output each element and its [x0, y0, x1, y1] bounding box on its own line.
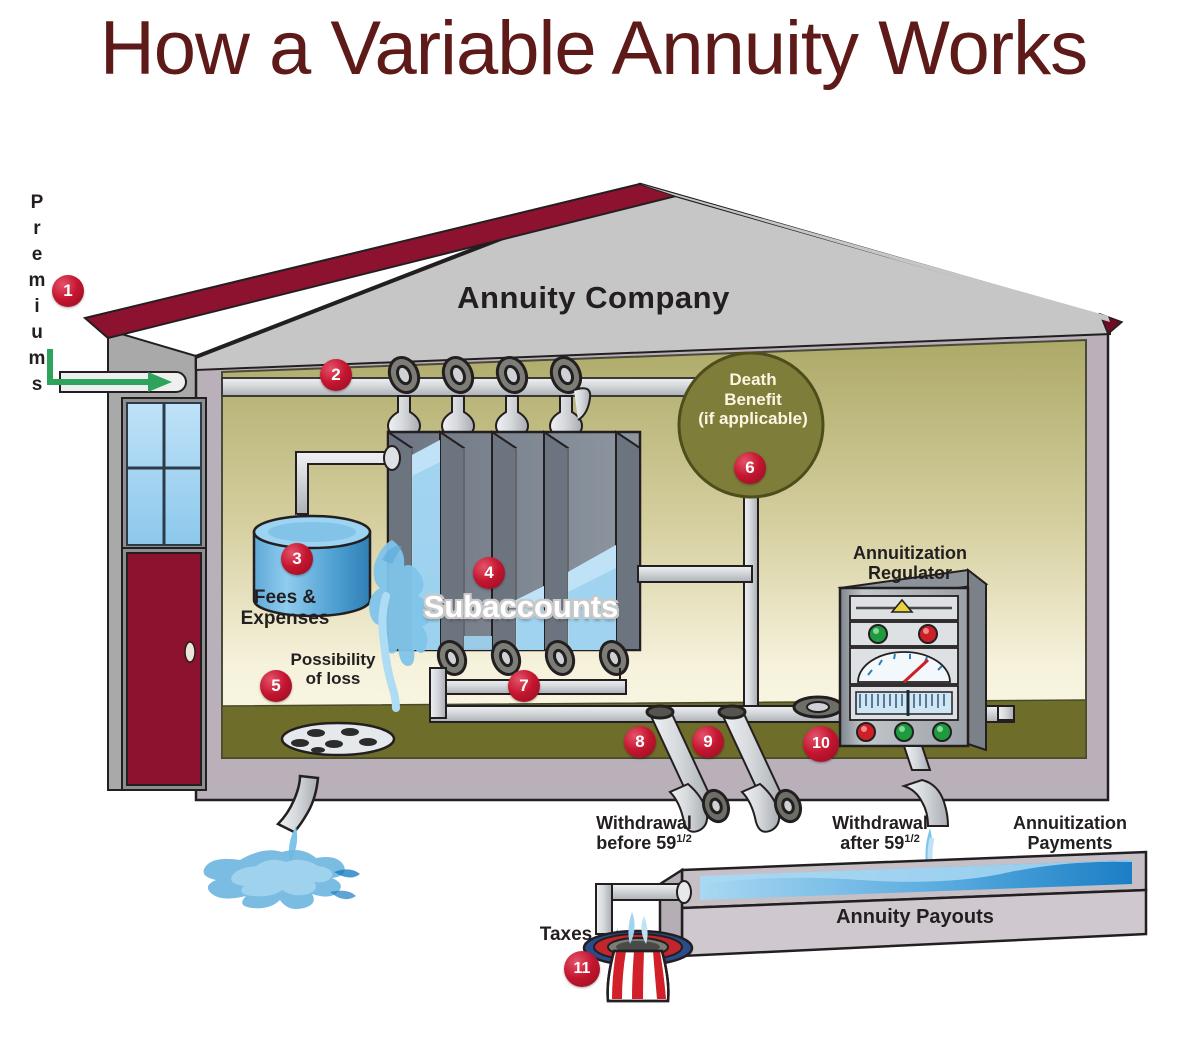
death-benefit-label: Death Benefit (if applicable) — [668, 370, 838, 429]
premiums-letter: s — [24, 372, 50, 398]
withdrawal-before-label: Withdrawal before 591/2 — [570, 813, 718, 853]
step-badge-2[interactable]: 2 — [320, 359, 352, 391]
withdrawal-after-fraction: 1/2 — [904, 833, 920, 845]
premiums-letter: m — [24, 346, 50, 372]
annuitization-regulator-label: Annuitization Regulator — [828, 543, 992, 583]
premiums-letter: u — [24, 320, 50, 346]
step-badge-5[interactable]: 5 — [260, 670, 292, 702]
fees-expenses-label: Fees & Expenses — [222, 587, 348, 630]
death-benefit-line-3: (if applicable) — [668, 409, 838, 429]
step-badge-11[interactable]: 11 — [564, 951, 600, 987]
annuity-payouts-label: Annuity Payouts — [790, 906, 1040, 929]
step-badge-8[interactable]: 8 — [624, 726, 656, 758]
step-badge-7[interactable]: 7 — [508, 670, 540, 702]
subaccounts-label: Subaccounts — [406, 589, 636, 625]
door-handle — [185, 642, 195, 662]
withdrawal-after-label: Withdrawal after 591/2 — [810, 813, 950, 853]
step-badge-1[interactable]: 1 — [52, 275, 84, 307]
diagram-canvas — [0, 0, 1187, 1061]
withdrawal-before-fraction: 1/2 — [676, 833, 692, 845]
premiums-letter: r — [24, 216, 50, 242]
premiums-letter: e — [24, 242, 50, 268]
side-wall-openings — [122, 398, 206, 790]
annuitization-payments-label: Annuitization Payments — [990, 813, 1150, 853]
step-badge-9[interactable]: 9 — [692, 726, 724, 758]
premiums-letter: P — [24, 190, 50, 216]
infographic-root: How a Variable Annuity Works — [0, 0, 1187, 1061]
door — [127, 553, 201, 785]
death-benefit-line-2: Benefit — [668, 390, 838, 410]
step-badge-10[interactable]: 10 — [803, 726, 839, 762]
annuitization-regulator-machine — [840, 570, 986, 770]
step-badge-4[interactable]: 4 — [473, 557, 505, 589]
floor-drain — [282, 723, 394, 755]
annuity-company-label: Annuity Company — [0, 280, 1187, 316]
taxes-label: Taxes — [527, 924, 605, 945]
step-badge-3[interactable]: 3 — [281, 543, 313, 575]
step-badge-6[interactable]: 6 — [734, 452, 766, 484]
death-benefit-line-1: Death — [668, 370, 838, 390]
regulator-feed-valve — [794, 697, 842, 717]
